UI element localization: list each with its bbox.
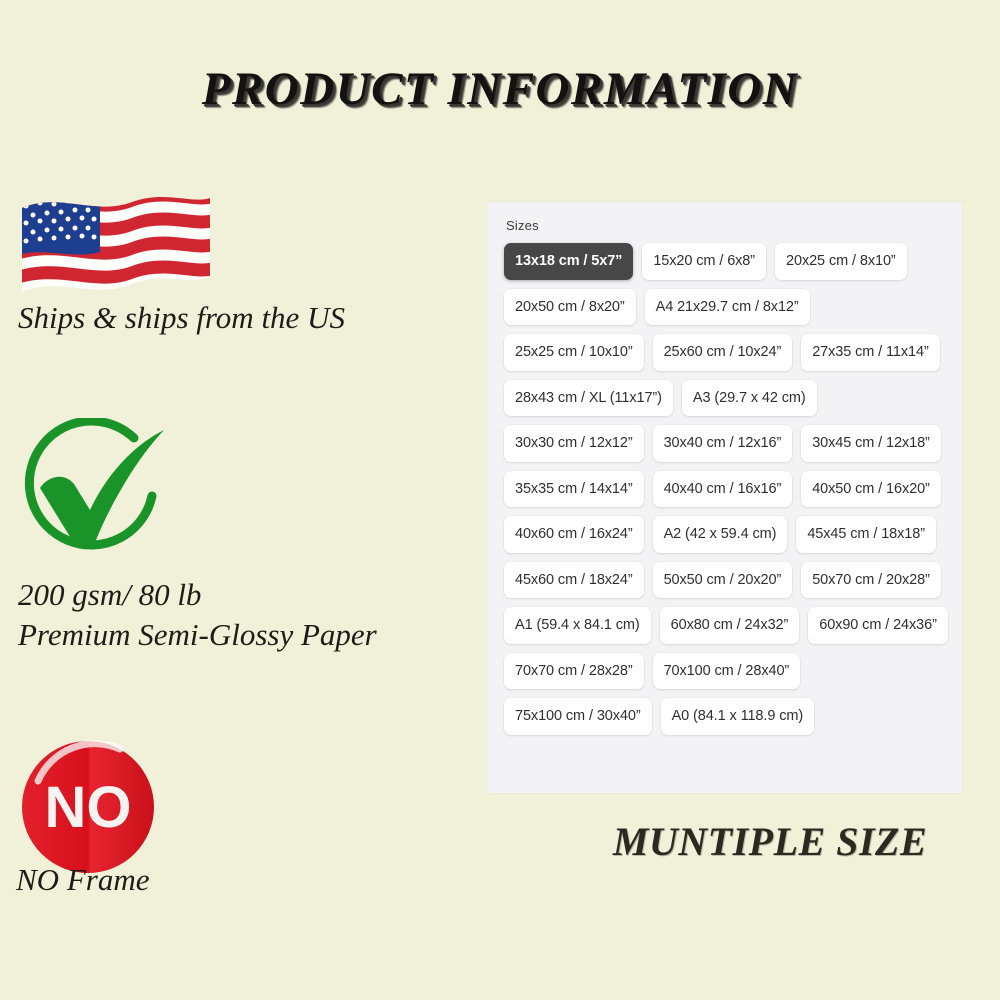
feature-ships-label: Ships & ships from the US <box>18 298 345 338</box>
sizes-label: Sizes <box>506 218 948 233</box>
sizes-panel: Sizes 13x18 cm / 5x7”15x20 cm / 6x8”20x2… <box>487 202 962 793</box>
size-option[interactable]: 30x30 cm / 12x12” <box>504 425 644 462</box>
feature-frame-label: NO Frame <box>16 860 149 900</box>
size-option[interactable]: A2 (42 x 59.4 cm) <box>653 516 788 553</box>
size-option[interactable]: 30x40 cm / 12x16” <box>653 425 793 462</box>
size-option[interactable]: 40x40 cm / 16x16” <box>653 471 793 508</box>
size-option[interactable]: 50x50 cm / 20x20” <box>653 562 793 599</box>
paper-weight-line: 200 gsm/ 80 lb <box>18 575 377 615</box>
size-option[interactable]: 40x60 cm / 16x24” <box>504 516 644 553</box>
size-option-grid: 13x18 cm / 5x7”15x20 cm / 6x8”20x25 cm /… <box>504 243 948 735</box>
size-option[interactable]: 70x100 cm / 28x40” <box>653 653 801 690</box>
no-badge-text: NO <box>45 775 132 840</box>
size-option[interactable]: 30x45 cm / 12x18” <box>801 425 941 462</box>
us-flag-icon <box>14 190 214 313</box>
size-option[interactable]: 50x70 cm / 20x28” <box>801 562 941 599</box>
size-option[interactable]: 35x35 cm / 14x14” <box>504 471 644 508</box>
size-option[interactable]: 45x45 cm / 18x18” <box>796 516 936 553</box>
size-option[interactable]: 25x60 cm / 10x24” <box>653 334 793 371</box>
size-option[interactable]: 60x80 cm / 24x32” <box>660 607 800 644</box>
feature-paper-label: 200 gsm/ 80 lb Premium Semi-Glossy Paper <box>18 575 377 654</box>
size-option[interactable]: 27x35 cm / 11x14” <box>801 334 940 371</box>
size-option[interactable]: 25x25 cm / 10x10” <box>504 334 644 371</box>
size-option[interactable]: 60x90 cm / 24x36” <box>808 607 948 644</box>
size-option[interactable]: A4 21x29.7 cm / 8x12” <box>645 289 810 326</box>
size-option[interactable]: 45x60 cm / 18x24” <box>504 562 644 599</box>
size-option[interactable]: A1 (59.4 x 84.1 cm) <box>504 607 651 644</box>
size-option[interactable]: 15x20 cm / 6x8” <box>642 243 766 280</box>
size-option[interactable]: 40x50 cm / 16x20” <box>801 471 941 508</box>
size-option[interactable]: 75x100 cm / 30x40” <box>504 698 652 735</box>
page-title: PRODUCT INFORMATION <box>0 62 1000 116</box>
green-checkmark-icon <box>14 418 174 568</box>
size-option[interactable]: 20x50 cm / 8x20” <box>504 289 636 326</box>
size-option[interactable]: A0 (84.1 x 118.9 cm) <box>661 698 815 735</box>
size-option[interactable]: 28x43 cm / XL (11x17”) <box>504 380 673 417</box>
paper-type-line: Premium Semi-Glossy Paper <box>18 615 377 655</box>
size-option[interactable]: 70x70 cm / 28x28” <box>504 653 644 690</box>
size-option[interactable]: 20x25 cm / 8x10” <box>775 243 907 280</box>
multiple-size-caption: MUNTIPLE SIZE <box>580 818 960 865</box>
size-option[interactable]: 13x18 cm / 5x7” <box>504 243 633 280</box>
size-option[interactable]: A3 (29.7 x 42 cm) <box>682 380 817 417</box>
